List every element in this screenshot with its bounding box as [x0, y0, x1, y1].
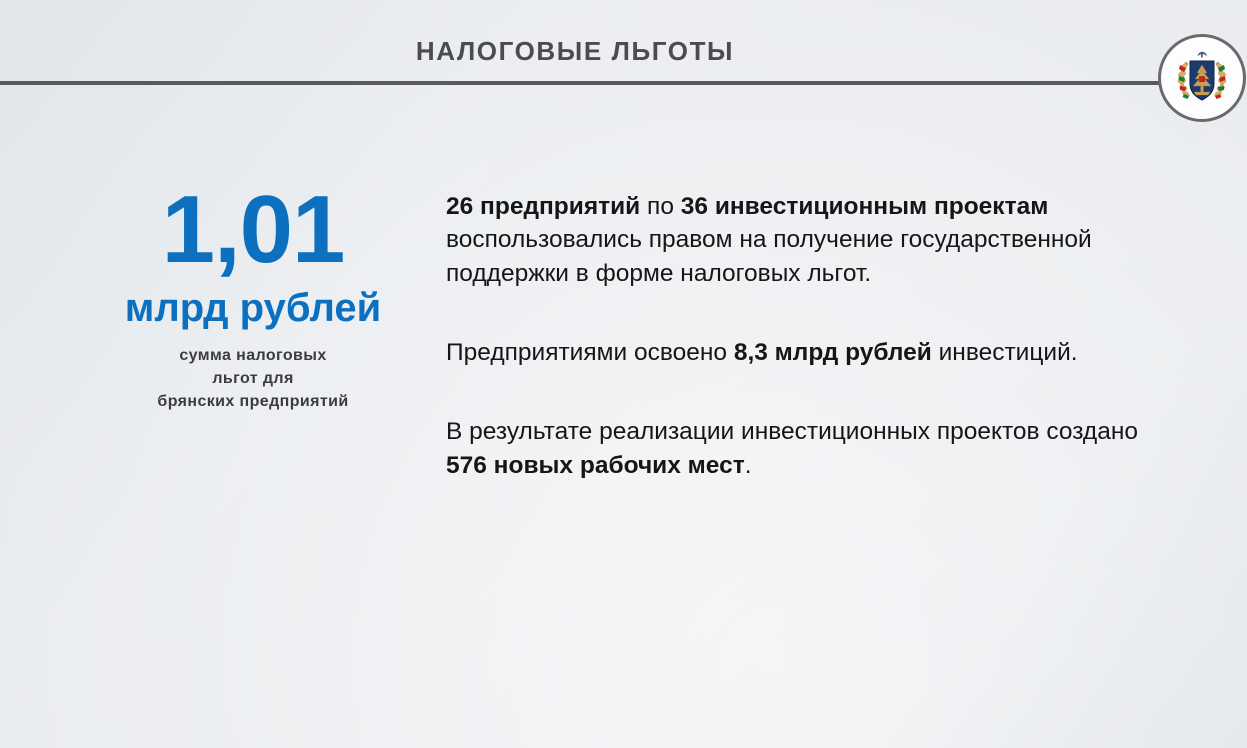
header-divider: [0, 81, 1162, 85]
emphasis-text-1: 8,3 млрд рублей: [734, 339, 932, 366]
body-text-1: по: [640, 193, 681, 220]
body-text-2: .: [745, 452, 752, 479]
emphasis-text-1: 576 новых рабочих мест: [446, 452, 745, 479]
emphasis-text-2: 36 инвестиционным проектам: [681, 193, 1049, 220]
slide-header: НАЛОГОВЫЕ ЛЬГОТЫ: [0, 0, 1247, 86]
stat-caption-line-1: сумма налоговых: [88, 344, 418, 367]
body-text-3: воспользовались правом на получение госу…: [446, 226, 1092, 286]
emphasis-text-0: 26 предприятий: [446, 193, 640, 220]
stat-caption: сумма налоговых льгот для брянских предп…: [88, 344, 418, 414]
body-text-0: Предприятиями освоено: [446, 339, 734, 366]
coat-of-arms-icon: [1158, 34, 1246, 122]
paragraph-tax-benefits: 26 предприятий по 36 инвестиционным прое…: [446, 190, 1176, 290]
paragraph-jobs: В результате реализации инвестиционных п…: [446, 415, 1176, 482]
paragraph-investments: Предприятиями освоено 8,3 млрд рублей ин…: [446, 336, 1176, 369]
stat-caption-line-3: брянских предприятий: [88, 390, 418, 413]
stat-highlight-block: 1,01 млрд рублей сумма налоговых льгот д…: [88, 182, 418, 414]
stat-value: 1,01: [88, 182, 418, 278]
body-text-2: инвестиций.: [932, 339, 1078, 366]
page-title: НАЛОГОВЫЕ ЛЬГОТЫ: [0, 38, 1150, 64]
stat-unit: млрд рублей: [88, 286, 418, 330]
body-text-block: 26 предприятий по 36 инвестиционным прое…: [446, 190, 1176, 482]
stat-caption-line-2: льгот для: [88, 367, 418, 390]
slide-root: НАЛОГОВЫЕ ЛЬГОТЫ: [0, 0, 1247, 748]
body-text-0: В результате реализации инвестиционных п…: [446, 418, 1138, 445]
